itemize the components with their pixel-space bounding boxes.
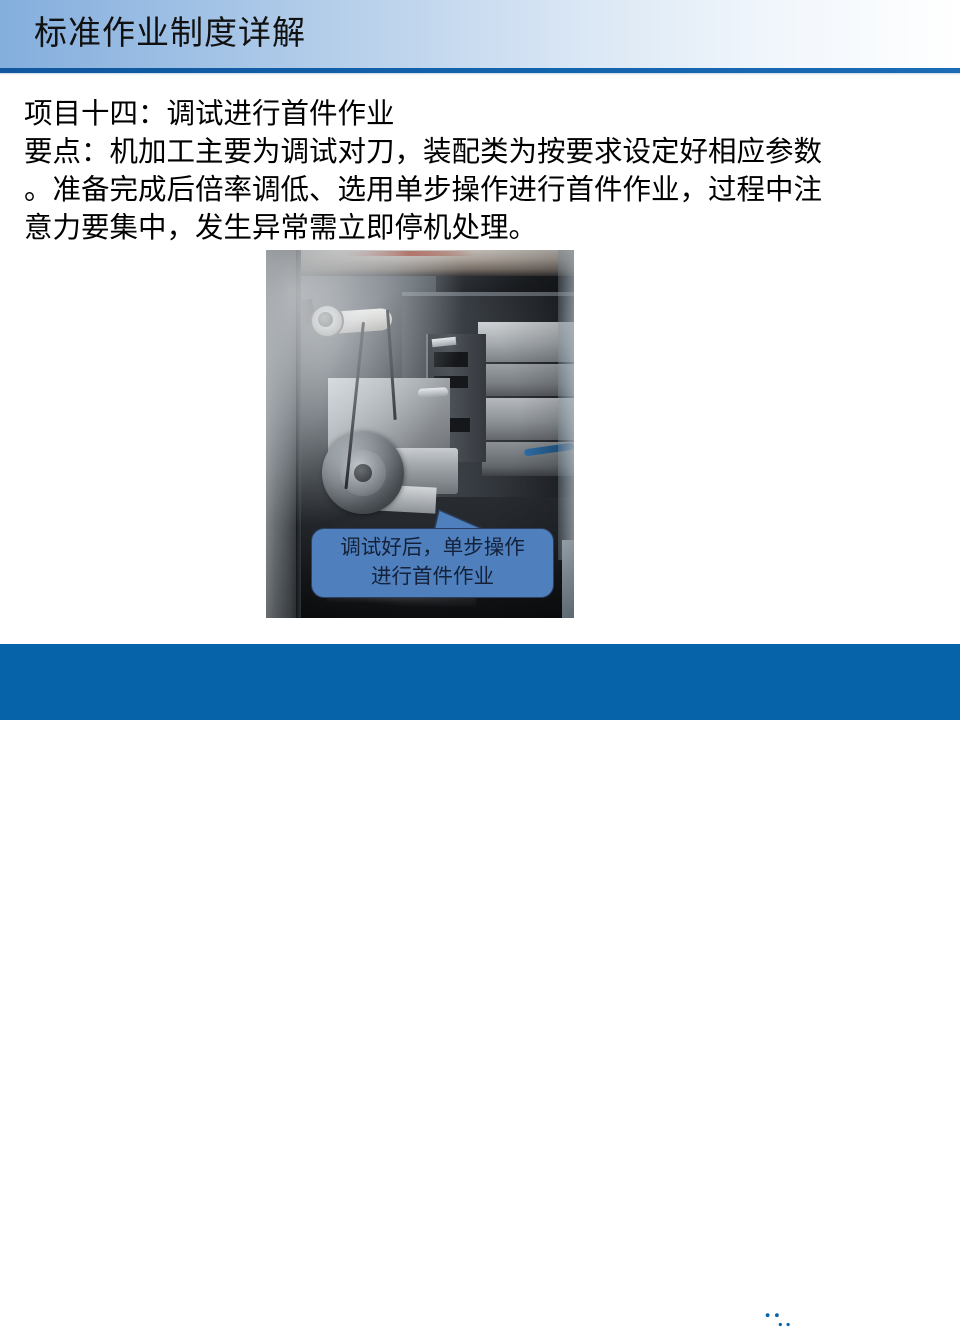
- body-line-3: 。准备完成后倍率调低、选用单步操作进行首件作业，过程中注: [24, 172, 940, 210]
- body-text: 项目十四：调试进行首件作业 要点：机加工主要为调试对刀，装配类为按要求设定好相应…: [24, 96, 940, 248]
- body-line-1: 项目十四：调试进行首件作业: [24, 96, 940, 134]
- header-divider-shadow: [0, 73, 960, 75]
- photo-right-gap: [558, 250, 574, 560]
- slide-header: 标准作业制度详解: [0, 0, 960, 68]
- page-title: 标准作业制度详解: [34, 11, 306, 57]
- wechat-icon: [757, 1305, 797, 1344]
- callout-bubble: 调试好后，单步操作 进行首件作业: [311, 528, 554, 598]
- footer-label: IATF16949: [807, 1310, 932, 1338]
- photo-right-post: [562, 540, 574, 618]
- callout-line-2: 进行首件作业: [371, 563, 494, 592]
- body-line-4: 意力要集中，发生异常需立即停机处理。: [24, 210, 940, 248]
- slide-footer: IATF16949: [0, 644, 960, 720]
- body-line-2: 要点：机加工主要为调试对刀，装配类为按要求设定好相应参数: [24, 134, 940, 172]
- slide: 标准作业制度详解 项目十四：调试进行首件作业 要点：机加工主要为调试对刀，装配类…: [0, 0, 960, 720]
- photo-glare: [266, 250, 466, 530]
- footer-brand: IATF16949: [757, 1304, 932, 1344]
- photo-callout: 调试好后，单步操作 进行首件作业: [311, 518, 554, 598]
- callout-line-1: 调试好后，单步操作: [340, 534, 525, 563]
